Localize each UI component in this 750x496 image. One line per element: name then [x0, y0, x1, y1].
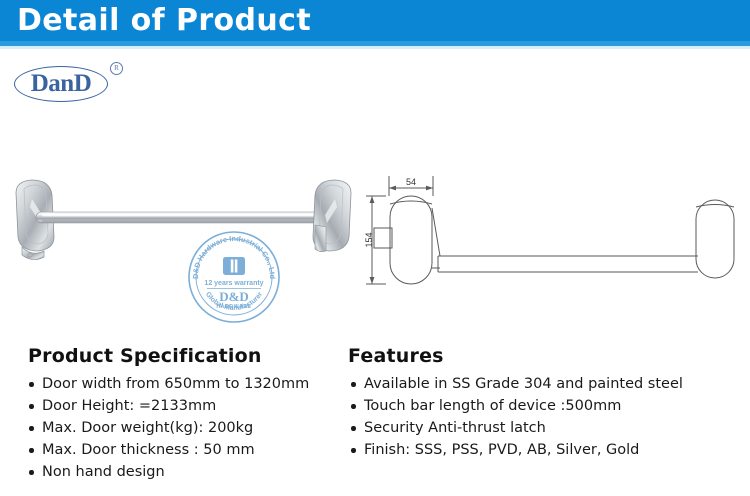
- features-heading: Features: [348, 345, 748, 367]
- svg-text:HARDWARE: HARDWARE: [216, 304, 251, 310]
- left-bracket-joint: [432, 208, 440, 268]
- banner-underline-light: [0, 46, 750, 49]
- list-item: Door width from 650mm to 1320mm: [28, 373, 348, 395]
- dimension-label-54: 54: [406, 177, 416, 187]
- product-photo: [8, 165, 358, 305]
- registered-trademark-icon: R: [110, 62, 123, 75]
- right-end-cap: [696, 200, 734, 278]
- list-item: Finish: SSS, PSS, PVD, AB, Silver, Gold: [348, 439, 748, 461]
- list-item: Available in SS Grade 304 and painted st…: [348, 373, 748, 395]
- svg-text:D&D: D&D: [219, 289, 249, 304]
- push-bar-profile: [438, 256, 698, 272]
- list-item: Touch bar length of device :500mm: [348, 395, 748, 417]
- brand-logo: DanD R: [14, 60, 144, 106]
- list-item: Max. Door weight(kg): 200kg: [28, 417, 348, 439]
- page-header-banner: Detail of Product: [0, 0, 750, 41]
- logo-brand-text: DanD: [14, 66, 108, 102]
- dimension-54: 54: [389, 176, 433, 196]
- page-title: Detail of Product: [17, 3, 311, 38]
- list-item: Max. Door thickness : 50 mm: [28, 439, 348, 461]
- features-list: Available in SS Grade 304 and painted st…: [348, 373, 748, 461]
- dimension-label-154: 154: [364, 232, 374, 247]
- list-item: Door Height: =2133mm: [28, 395, 348, 417]
- left-end-cap: [374, 196, 432, 284]
- svg-text:12 years warranty: 12 years warranty: [204, 280, 263, 287]
- list-item: Non hand design: [28, 461, 348, 483]
- list-item: Security Anti-thrust latch: [348, 417, 748, 439]
- company-watermark-stamp: D&D Hardware Industrial Co., Ltd Global …: [185, 228, 283, 326]
- features-section: Features Available in SS Grade 304 and p…: [348, 345, 748, 461]
- specification-heading: Product Specification: [28, 345, 348, 367]
- cross-push-bar: [36, 212, 336, 223]
- right-mount-bracket: [313, 180, 351, 252]
- specification-list: Door width from 650mm to 1320mm Door Hei…: [28, 373, 348, 483]
- dimension-154: 154: [364, 196, 386, 284]
- product-specification-section: Product Specification Door width from 65…: [28, 345, 348, 483]
- technical-drawing: 54 154: [358, 160, 750, 305]
